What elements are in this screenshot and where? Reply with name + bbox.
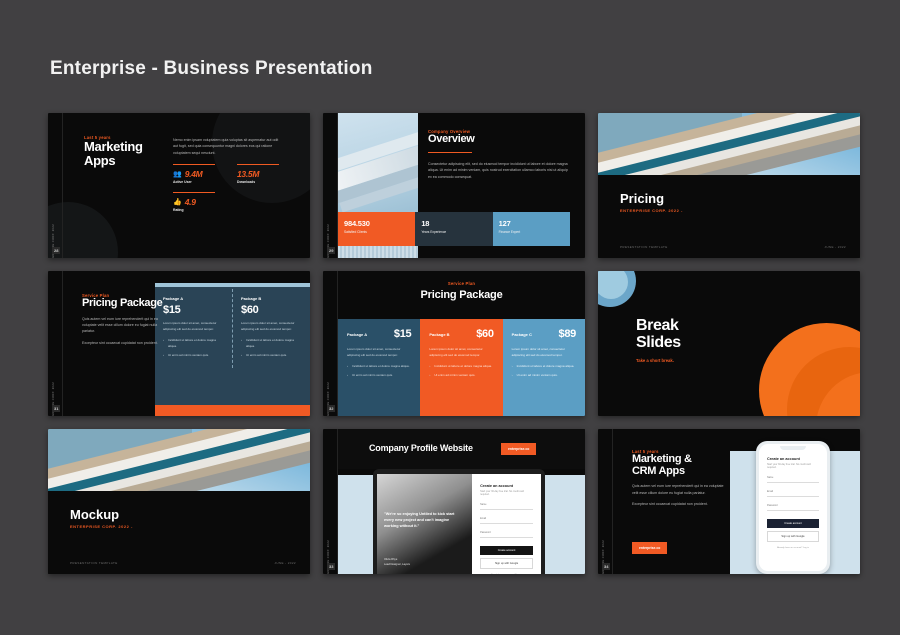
building-photo bbox=[48, 429, 310, 491]
password-field[interactable]: Password bbox=[480, 531, 533, 538]
package-name: Package A bbox=[163, 296, 224, 301]
phone-notch bbox=[780, 446, 806, 450]
package-description: Lorem ipsum dolor sit amet, consectetur … bbox=[512, 347, 576, 358]
package-description: Lorem ipsum dolor sit amet, consectetur … bbox=[163, 321, 224, 332]
slide-number: 28 bbox=[52, 247, 60, 254]
package-feature-list: Incididunt ut labore et dolore magna ali… bbox=[429, 364, 493, 378]
footer-left: PRESENTATION TEMPLATE bbox=[70, 561, 118, 565]
building-photo bbox=[598, 113, 860, 175]
slide-thumbnail-company-profile-website[interactable]: ENTERPRISE CORP. 2022 Company Profile We… bbox=[323, 429, 585, 574]
laptop-screen: "We're so enjoying Untiled to kick start… bbox=[377, 474, 541, 574]
slide-thumbnail-marketing-apps[interactable]: ENTERPRISE CORP. 2022 Last 5 years Marke… bbox=[48, 113, 310, 258]
list-item: Ut enim ad minim veniam quis. bbox=[241, 353, 302, 359]
package-name: Package C bbox=[512, 332, 532, 337]
slide-subtitle: ENTERPRISE CORP. 2022 - bbox=[70, 524, 133, 529]
slide-title-line-1: Break bbox=[636, 317, 681, 334]
list-item: Incididunt ut labore et dolore magna ali… bbox=[241, 338, 302, 349]
slide-title: Pricing bbox=[620, 191, 664, 206]
testimonial-quote: "We're so enjoying Untiled to kick start… bbox=[384, 512, 464, 530]
stat-value: 18 bbox=[421, 219, 486, 228]
package-card-b[interactable]: Package B $60 Lorem ipsum dolor sit amet… bbox=[420, 319, 502, 416]
slide-number: 33 bbox=[327, 563, 335, 570]
slide-body-text-2: Excepteur sint occaecat cupidatat non pr… bbox=[632, 501, 724, 507]
slide-title: Pricing Package bbox=[338, 289, 585, 301]
slide-content-block: Nemo enim ipsam voluptatem quia voluptas… bbox=[173, 137, 283, 212]
list-item: Incididunt ut labore et dolore magna ali… bbox=[347, 364, 411, 370]
package-price: $15 bbox=[163, 304, 224, 316]
slide-title: Mockup bbox=[70, 507, 119, 522]
field-underline bbox=[767, 482, 819, 483]
field-label: Name bbox=[480, 503, 533, 506]
phone-screen: Create an account Start your 30-day free… bbox=[759, 444, 827, 571]
stat-label: Downloads bbox=[237, 180, 279, 184]
email-field[interactable]: Email bbox=[767, 490, 819, 497]
slide-thumbnail-overview[interactable]: ENTERPRISE CORP. 2022 Company Overview O… bbox=[323, 113, 585, 258]
package-card-c[interactable]: Package C $89 Lorem ipsum dolor sit amet… bbox=[503, 319, 585, 416]
slide-subtitle: ENTERPRISE CORP. 2022 - bbox=[620, 208, 683, 213]
list-item: Incididunt ut labore et dolore magna ali… bbox=[429, 364, 493, 370]
phone-mockup: Create an account Start your 30-day free… bbox=[756, 441, 830, 574]
field-label: Password bbox=[480, 531, 533, 534]
title-rule bbox=[428, 152, 472, 153]
package-name: Package B bbox=[241, 296, 302, 301]
field-label: Name bbox=[767, 476, 819, 479]
field-label: Password bbox=[767, 504, 819, 507]
stat-active-user: 👥 9.4M Active User bbox=[173, 164, 215, 184]
package-card-a[interactable]: Package A $15 Lorem ipsum dolor sit amet… bbox=[155, 289, 232, 368]
signup-form: Create an account Start your 30-day free… bbox=[472, 474, 541, 574]
slide-subtitle: Take a short break. bbox=[636, 358, 681, 363]
slide-grid: ENTERPRISE CORP. 2022 Last 5 years Marke… bbox=[48, 113, 854, 574]
slide-content-block: Company Overview Overview Consectetur ad… bbox=[428, 129, 568, 180]
password-field[interactable]: Password bbox=[767, 504, 819, 511]
slide-heading-block: Service Plan Pricing Package Quis autem … bbox=[82, 293, 166, 346]
package-price: $89 bbox=[559, 328, 576, 340]
slide-body-text: Consectetur adipiscing elit, sed do eius… bbox=[428, 161, 568, 180]
list-item: Incididunt ut labore et dolore magna ali… bbox=[512, 364, 576, 370]
package-price: $60 bbox=[241, 304, 302, 316]
stat-box-satisfied-clients: 984.530 Satisfied Clients bbox=[338, 212, 415, 246]
rail-divider bbox=[62, 113, 63, 258]
testimonial-author: Olivia Rhye Lead Designer, Layers bbox=[384, 558, 410, 567]
stat-row: 👍 4.9 Rating bbox=[173, 192, 283, 212]
package-description: Lorem ipsum dolor sit amet, consectetur … bbox=[347, 347, 411, 358]
stat-label: Years Experience bbox=[421, 230, 486, 234]
name-field[interactable]: Name bbox=[480, 503, 533, 510]
stat-label: Satisfied Clients bbox=[344, 230, 409, 234]
stat-label: Finance Expert bbox=[499, 230, 564, 234]
rail-divider bbox=[612, 429, 613, 574]
slide-title: Marketing Apps bbox=[84, 140, 162, 168]
slide-body-text-1: Quis autem vel eum iure reprehenderit qu… bbox=[632, 483, 724, 496]
form-heading: Create an account bbox=[480, 484, 533, 488]
stat-rating: 👍 4.9 Rating bbox=[173, 192, 215, 212]
panel-top-accent bbox=[155, 283, 310, 287]
package-feature-list: Incididunt ut labore et dolore magna ali… bbox=[241, 338, 302, 358]
page-title: Enterprise - Business Presentation bbox=[50, 58, 373, 80]
slide-number: 31 bbox=[52, 405, 60, 412]
field-underline bbox=[767, 510, 819, 511]
slide-title-line-1: Marketing & bbox=[632, 454, 724, 466]
slide-number: 34 bbox=[602, 563, 610, 570]
package-feature-list: Incididunt ut labore et dolore magna ali… bbox=[347, 364, 411, 378]
slide-thumbnail-marketing-crm-apps[interactable]: ENTERPRISE CORP. 2022 Last 5 years Marke… bbox=[598, 429, 860, 574]
laptop-mockup: "We're so enjoying Untiled to kick start… bbox=[373, 469, 545, 574]
google-signup-button[interactable]: Sign up with Google bbox=[480, 558, 533, 569]
field-underline bbox=[767, 496, 819, 497]
footer-right: JUNE - 2022 bbox=[274, 561, 296, 565]
slide-thumbnail-break-slides[interactable]: Break Slides Take a short break. bbox=[598, 271, 860, 416]
rail-divider bbox=[62, 271, 63, 416]
list-item: Ut enim ad minim veniam quis. bbox=[512, 373, 576, 379]
panel-bottom-accent bbox=[155, 405, 310, 416]
email-field[interactable]: Email bbox=[480, 517, 533, 524]
field-underline bbox=[480, 523, 533, 524]
stat-value: 4.9 bbox=[185, 197, 196, 207]
package-columns: Package A $15 Lorem ipsum dolor sit amet… bbox=[155, 289, 310, 368]
package-feature-list: Incididunt ut labore et dolore magna ali… bbox=[512, 364, 576, 378]
list-item: Ut enim ad minim veniam quis. bbox=[347, 373, 411, 379]
slide-number: 32 bbox=[327, 405, 335, 412]
slide-body-text-2: Excepteur sint occaecat cupidatat non pr… bbox=[82, 340, 166, 346]
slide-heading-block: Service Plan Pricing Package bbox=[338, 281, 585, 301]
list-item: Incididunt ut labore et dolore magna ali… bbox=[163, 338, 224, 349]
create-account-button[interactable]: Create account bbox=[480, 546, 533, 555]
slide-title: Company Profile Website bbox=[369, 443, 473, 453]
slide-title-line-2: CRM Apps bbox=[632, 466, 724, 478]
slide-thumbnail-pricing-package-three[interactable]: ENTERPRISE CORP. 2022 Service Plan Prici… bbox=[323, 271, 585, 416]
list-item: Ut enim ad minim veniam quis. bbox=[163, 353, 224, 359]
form-subtext: Start your 30-day free trial. No credit … bbox=[480, 490, 533, 496]
footer-left: PRESENTATION TEMPLATE bbox=[620, 245, 668, 249]
slide-heading-block: Last 5 years Marketing & CRM Apps Quis a… bbox=[632, 449, 724, 507]
stat-downloads: 13.5M Downloads bbox=[237, 164, 279, 184]
list-item: Ut enim ad minim veniam quis. bbox=[429, 373, 493, 379]
stat-value: 9.4M bbox=[185, 169, 203, 179]
package-name: Package B bbox=[429, 332, 449, 337]
form-subtext: Start your 30-day free trial. No credit … bbox=[767, 463, 819, 469]
create-account-button[interactable]: Create account bbox=[767, 519, 819, 528]
package-card-a[interactable]: Package A $15 Lorem ipsum dolor sit amet… bbox=[338, 319, 420, 416]
package-name: Package A bbox=[347, 332, 367, 337]
package-card-b[interactable]: Package B $60 Lorem ipsum dolor sit amet… bbox=[233, 289, 310, 368]
login-link[interactable]: Already have an account? Log in bbox=[767, 547, 819, 549]
package-feature-list: Incididunt ut labore et dolore magna ali… bbox=[163, 338, 224, 358]
name-field[interactable]: Name bbox=[767, 476, 819, 483]
stat-value: 13.5M bbox=[237, 169, 259, 179]
field-underline bbox=[480, 509, 533, 510]
stat-value: 984.530 bbox=[344, 219, 409, 228]
google-signup-button[interactable]: Sign up with Google bbox=[767, 531, 819, 542]
slide-heading-block: Break Slides Take a short break. bbox=[636, 317, 681, 363]
author-role: Lead Designer, Layers bbox=[384, 563, 410, 567]
slide-thumbnail-pricing-cover[interactable]: Pricing ENTERPRISE CORP. 2022 - PRESENTA… bbox=[598, 113, 860, 258]
enterprise-badge[interactable]: enterprise.co bbox=[501, 443, 536, 455]
slide-eyebrow: Service Plan bbox=[338, 281, 585, 286]
slide-body-text-1: Quis autem vel eum iure reprehenderit qu… bbox=[82, 316, 166, 335]
field-label: Email bbox=[767, 490, 819, 493]
stat-label: Rating bbox=[173, 208, 215, 212]
slide-thumbnail-pricing-package-two[interactable]: ENTERPRISE CORP. 2022 Service Plan Prici… bbox=[48, 271, 310, 416]
field-label: Email bbox=[480, 517, 533, 520]
thumbs-up-icon: 👍 bbox=[173, 198, 182, 206]
form-heading: Create an account bbox=[767, 457, 819, 461]
package-columns: Package A $15 Lorem ipsum dolor sit amet… bbox=[338, 319, 585, 416]
slide-number: 29 bbox=[327, 247, 335, 254]
slide-heading-block: Last 5 years Marketing Apps bbox=[84, 135, 162, 168]
users-icon: 👥 bbox=[173, 170, 182, 178]
stat-value: 127 bbox=[499, 219, 564, 228]
slide-title: Pricing Package bbox=[82, 298, 166, 310]
slide-title-line-2: Slides bbox=[636, 334, 681, 351]
footer-right: JUNE - 2022 bbox=[824, 245, 846, 249]
stat-boxes: 984.530 Satisfied Clients 18 Years Exper… bbox=[338, 212, 570, 246]
slide-body-text: Nemo enim ipsam voluptatem quia voluptas… bbox=[173, 137, 283, 156]
enterprise-button[interactable]: enterprise.co bbox=[632, 542, 667, 554]
package-description: Lorem ipsum dolor sit amet, consectetur … bbox=[241, 321, 302, 332]
stat-box-years-experience: 18 Years Experience bbox=[415, 212, 492, 246]
slide-title: Overview bbox=[428, 134, 568, 146]
package-price: $60 bbox=[476, 328, 493, 340]
hero-image-panel: "We're so enjoying Untiled to kick start… bbox=[377, 474, 472, 574]
package-description: Lorem ipsum dolor sit amet, consectetur … bbox=[429, 347, 493, 358]
stat-box-finance-expert: 127 Finance Expert bbox=[493, 212, 570, 246]
slide-thumbnail-mockup-cover[interactable]: Mockup ENTERPRISE CORP. 2022 - PRESENTAT… bbox=[48, 429, 310, 574]
package-price: $15 bbox=[394, 328, 411, 340]
field-underline bbox=[480, 537, 533, 538]
stat-label: Active User bbox=[173, 180, 215, 184]
stat-row: 👥 9.4M Active User 13.5M Downloads bbox=[173, 164, 283, 184]
